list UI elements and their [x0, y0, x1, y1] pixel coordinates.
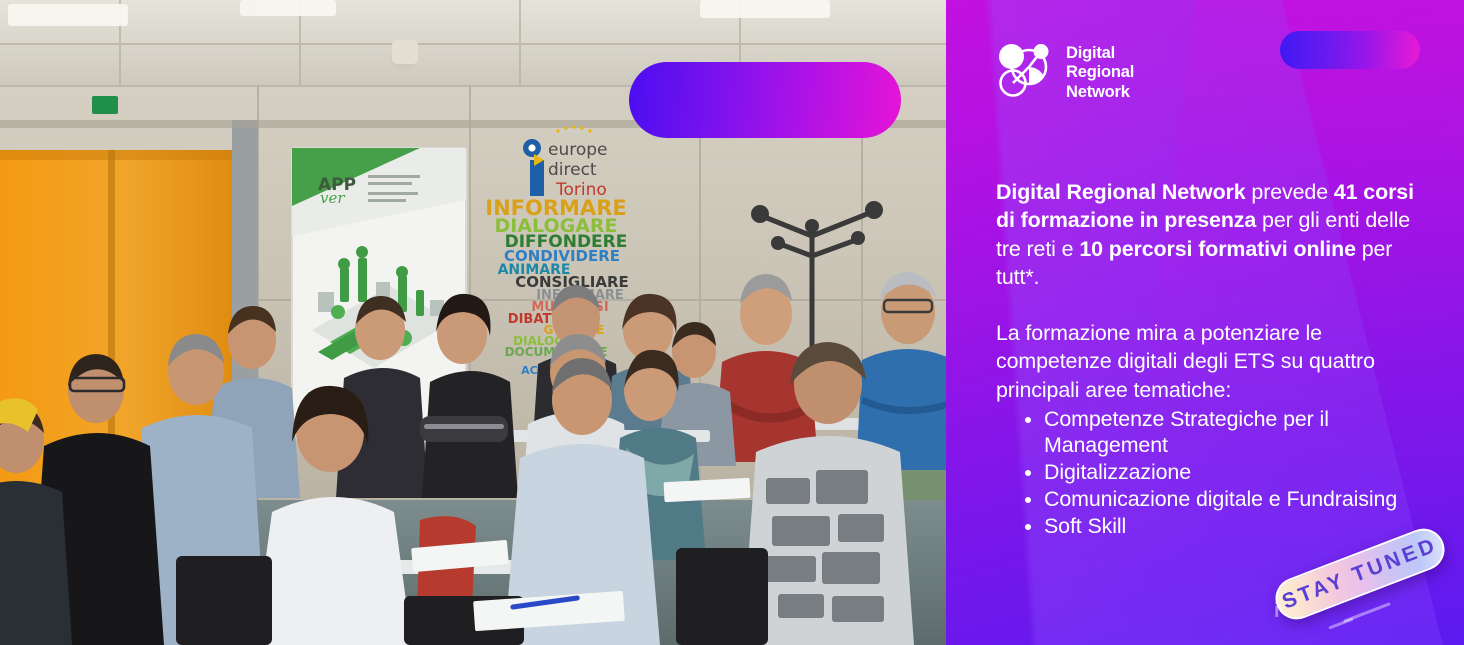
logo-line-3: Network	[1066, 83, 1134, 102]
sticker-motion-dash	[1343, 602, 1391, 623]
text-prevede: prevede	[1246, 180, 1334, 204]
list-item: Comunicazione digitale e Fundraising	[1031, 486, 1416, 512]
svg-text:ver: ver	[320, 189, 345, 207]
gradient-pill-decoration	[1280, 31, 1420, 69]
svg-text:direct: direct	[548, 160, 597, 180]
brand-wordmark: Digital Regional Network	[1066, 42, 1134, 102]
list-item: Competenze Strategiche per il Management	[1031, 406, 1416, 458]
list-item: Digitalizzazione	[1031, 459, 1416, 485]
theme-list: Competenze Strategiche per il Management…	[996, 406, 1416, 540]
svg-text:europe: europe	[548, 140, 608, 160]
highlight-online: 10 percorsi formativi online	[1079, 237, 1356, 261]
classroom-photo: APP ver	[0, 0, 946, 645]
logo-line-2: Regional	[1066, 63, 1134, 82]
highlight-brand: Digital Regional Network	[996, 180, 1246, 204]
gradient-pill-on-photo	[629, 62, 901, 138]
digital-regional-network-logomark	[998, 42, 1054, 100]
paragraph-themes: La formazione mira a potenziare le compe…	[996, 319, 1416, 404]
paragraph-intro: Digital Regional Network prevede 41 cors…	[996, 178, 1416, 291]
promo-banner: APP ver	[0, 0, 1464, 645]
brand-logo[interactable]: Digital Regional Network	[998, 42, 1134, 102]
panel-copy: Digital Regional Network prevede 41 cors…	[996, 178, 1416, 540]
stay-tuned-label: STAY TUNED	[1279, 533, 1441, 614]
sticker-motion-dash	[1328, 617, 1353, 629]
list-item: Soft Skill	[1031, 513, 1416, 539]
logo-line-1: Digital	[1066, 44, 1134, 63]
info-panel: Digital Regional Network Digital Regiona…	[946, 0, 1464, 645]
sticker-side-mark: i	[1274, 600, 1280, 623]
